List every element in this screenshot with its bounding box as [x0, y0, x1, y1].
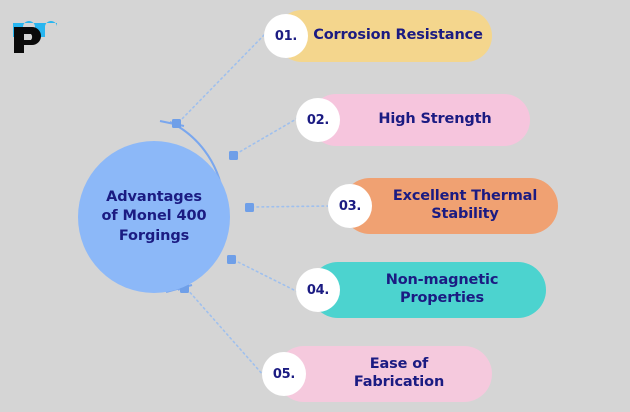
item-number-3: 03.	[339, 199, 361, 214]
list-item[interactable]: 02. High Strength	[296, 94, 530, 146]
leader-line-2	[236, 118, 298, 154]
center-hub: Advantages of Monel 400 Forgings	[78, 141, 230, 293]
arc-node-3	[245, 203, 254, 212]
list-item[interactable]: 04. Non-magnetic Properties	[296, 262, 546, 318]
leader-line-4	[234, 260, 298, 292]
list-item[interactable]: 05. Ease of Fabrication	[262, 346, 492, 402]
item-label-3: Excellent Thermal Stability	[378, 188, 552, 223]
leader-line-5	[187, 289, 264, 376]
item-badge-3: 03.	[328, 184, 372, 228]
infographic-canvas: Advantages of Monel 400 Forgings 01. Cor…	[0, 0, 630, 412]
hub-title: Advantages of Monel 400 Forgings	[94, 188, 215, 246]
leader-line-3	[252, 206, 330, 207]
item-number-2: 02.	[307, 113, 329, 128]
list-item[interactable]: 01. Corrosion Resistance	[264, 10, 492, 62]
item-badge-2: 02.	[296, 98, 340, 142]
leader-line-1	[179, 33, 266, 122]
item-label-1: Corrosion Resistance	[312, 27, 484, 45]
item-label-2: High Strength	[346, 111, 524, 129]
item-label-5: Ease of Fabrication	[312, 356, 486, 391]
item-label-4: Non-magnetic Properties	[346, 272, 538, 307]
arc-node-1	[172, 119, 181, 128]
arc-node-4	[227, 255, 236, 264]
item-badge-5: 05.	[262, 352, 306, 396]
item-badge-4: 04.	[296, 268, 340, 312]
item-number-4: 04.	[307, 283, 329, 298]
item-badge-1: 01.	[264, 14, 308, 58]
item-number-5: 05.	[273, 367, 295, 382]
item-number-1: 01.	[275, 29, 297, 44]
list-item[interactable]: 03. Excellent Thermal Stability	[328, 178, 558, 234]
arc-node-2	[229, 151, 238, 160]
